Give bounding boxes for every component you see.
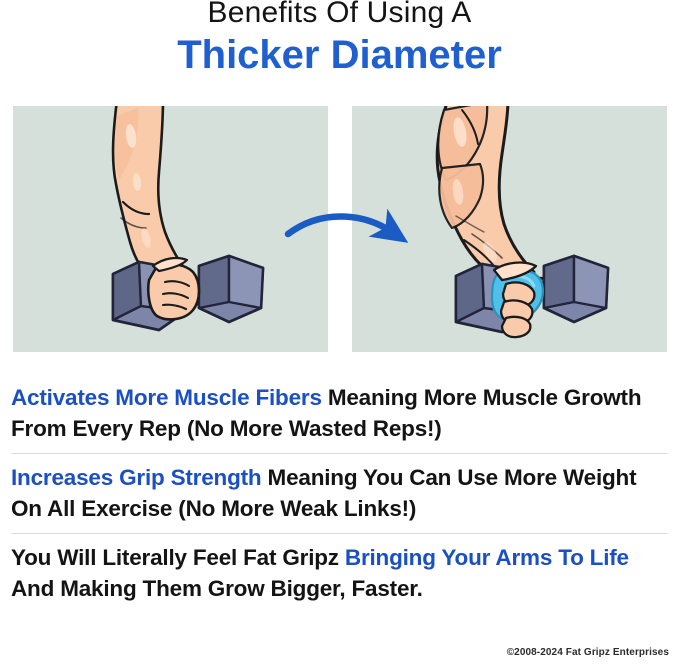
- benefit-3-line-1: You Will Literally Feel Fat Gripz Bringi…: [11, 542, 668, 573]
- benefit-2-line-2: On All Exercise (No More Weak Links!): [11, 493, 668, 524]
- benefit-3-highlight: Bringing Your Arms To Life: [345, 545, 629, 570]
- panel-before-thin-arm: [13, 106, 328, 352]
- benefit-1-highlight: Activates More Muscle Fibers: [11, 385, 322, 410]
- benefit-3-line-2: And Making Them Grow Bigger, Faster.: [11, 573, 668, 604]
- headline-line-1: Benefits Of Using A: [0, 0, 679, 30]
- benefit-block-1: Activates More Muscle Fibers Meaning Mor…: [11, 374, 668, 453]
- benefit-2-line-1: Increases Grip Strength Meaning You Can …: [11, 462, 668, 493]
- benefit-2-rest: Meaning You Can Use More Weight: [261, 465, 636, 490]
- copyright-footer: ©2008-2024 Fat Gripz Enterprises: [0, 647, 669, 658]
- benefit-3-lead: You Will Literally Feel Fat Gripz: [11, 545, 345, 570]
- benefit-2-highlight: Increases Grip Strength: [11, 465, 261, 490]
- benefit-1-rest: Meaning More Muscle Growth: [322, 385, 642, 410]
- page-headline: Benefits Of Using A Thicker Diameter: [0, 0, 679, 78]
- panel-after-muscular-arm: [352, 106, 667, 352]
- benefit-1-line-1: Activates More Muscle Fibers Meaning Mor…: [11, 382, 668, 413]
- benefit-block-3: You Will Literally Feel Fat Gripz Bringi…: [11, 533, 668, 613]
- headline-line-2: Thicker Diameter: [0, 32, 679, 78]
- benefits-list: Activates More Muscle Fibers Meaning Mor…: [11, 374, 668, 613]
- comparison-panels: [13, 106, 668, 352]
- benefit-block-2: Increases Grip Strength Meaning You Can …: [11, 453, 668, 533]
- benefit-1-line-2: From Every Rep (No More Wasted Reps!): [11, 413, 668, 444]
